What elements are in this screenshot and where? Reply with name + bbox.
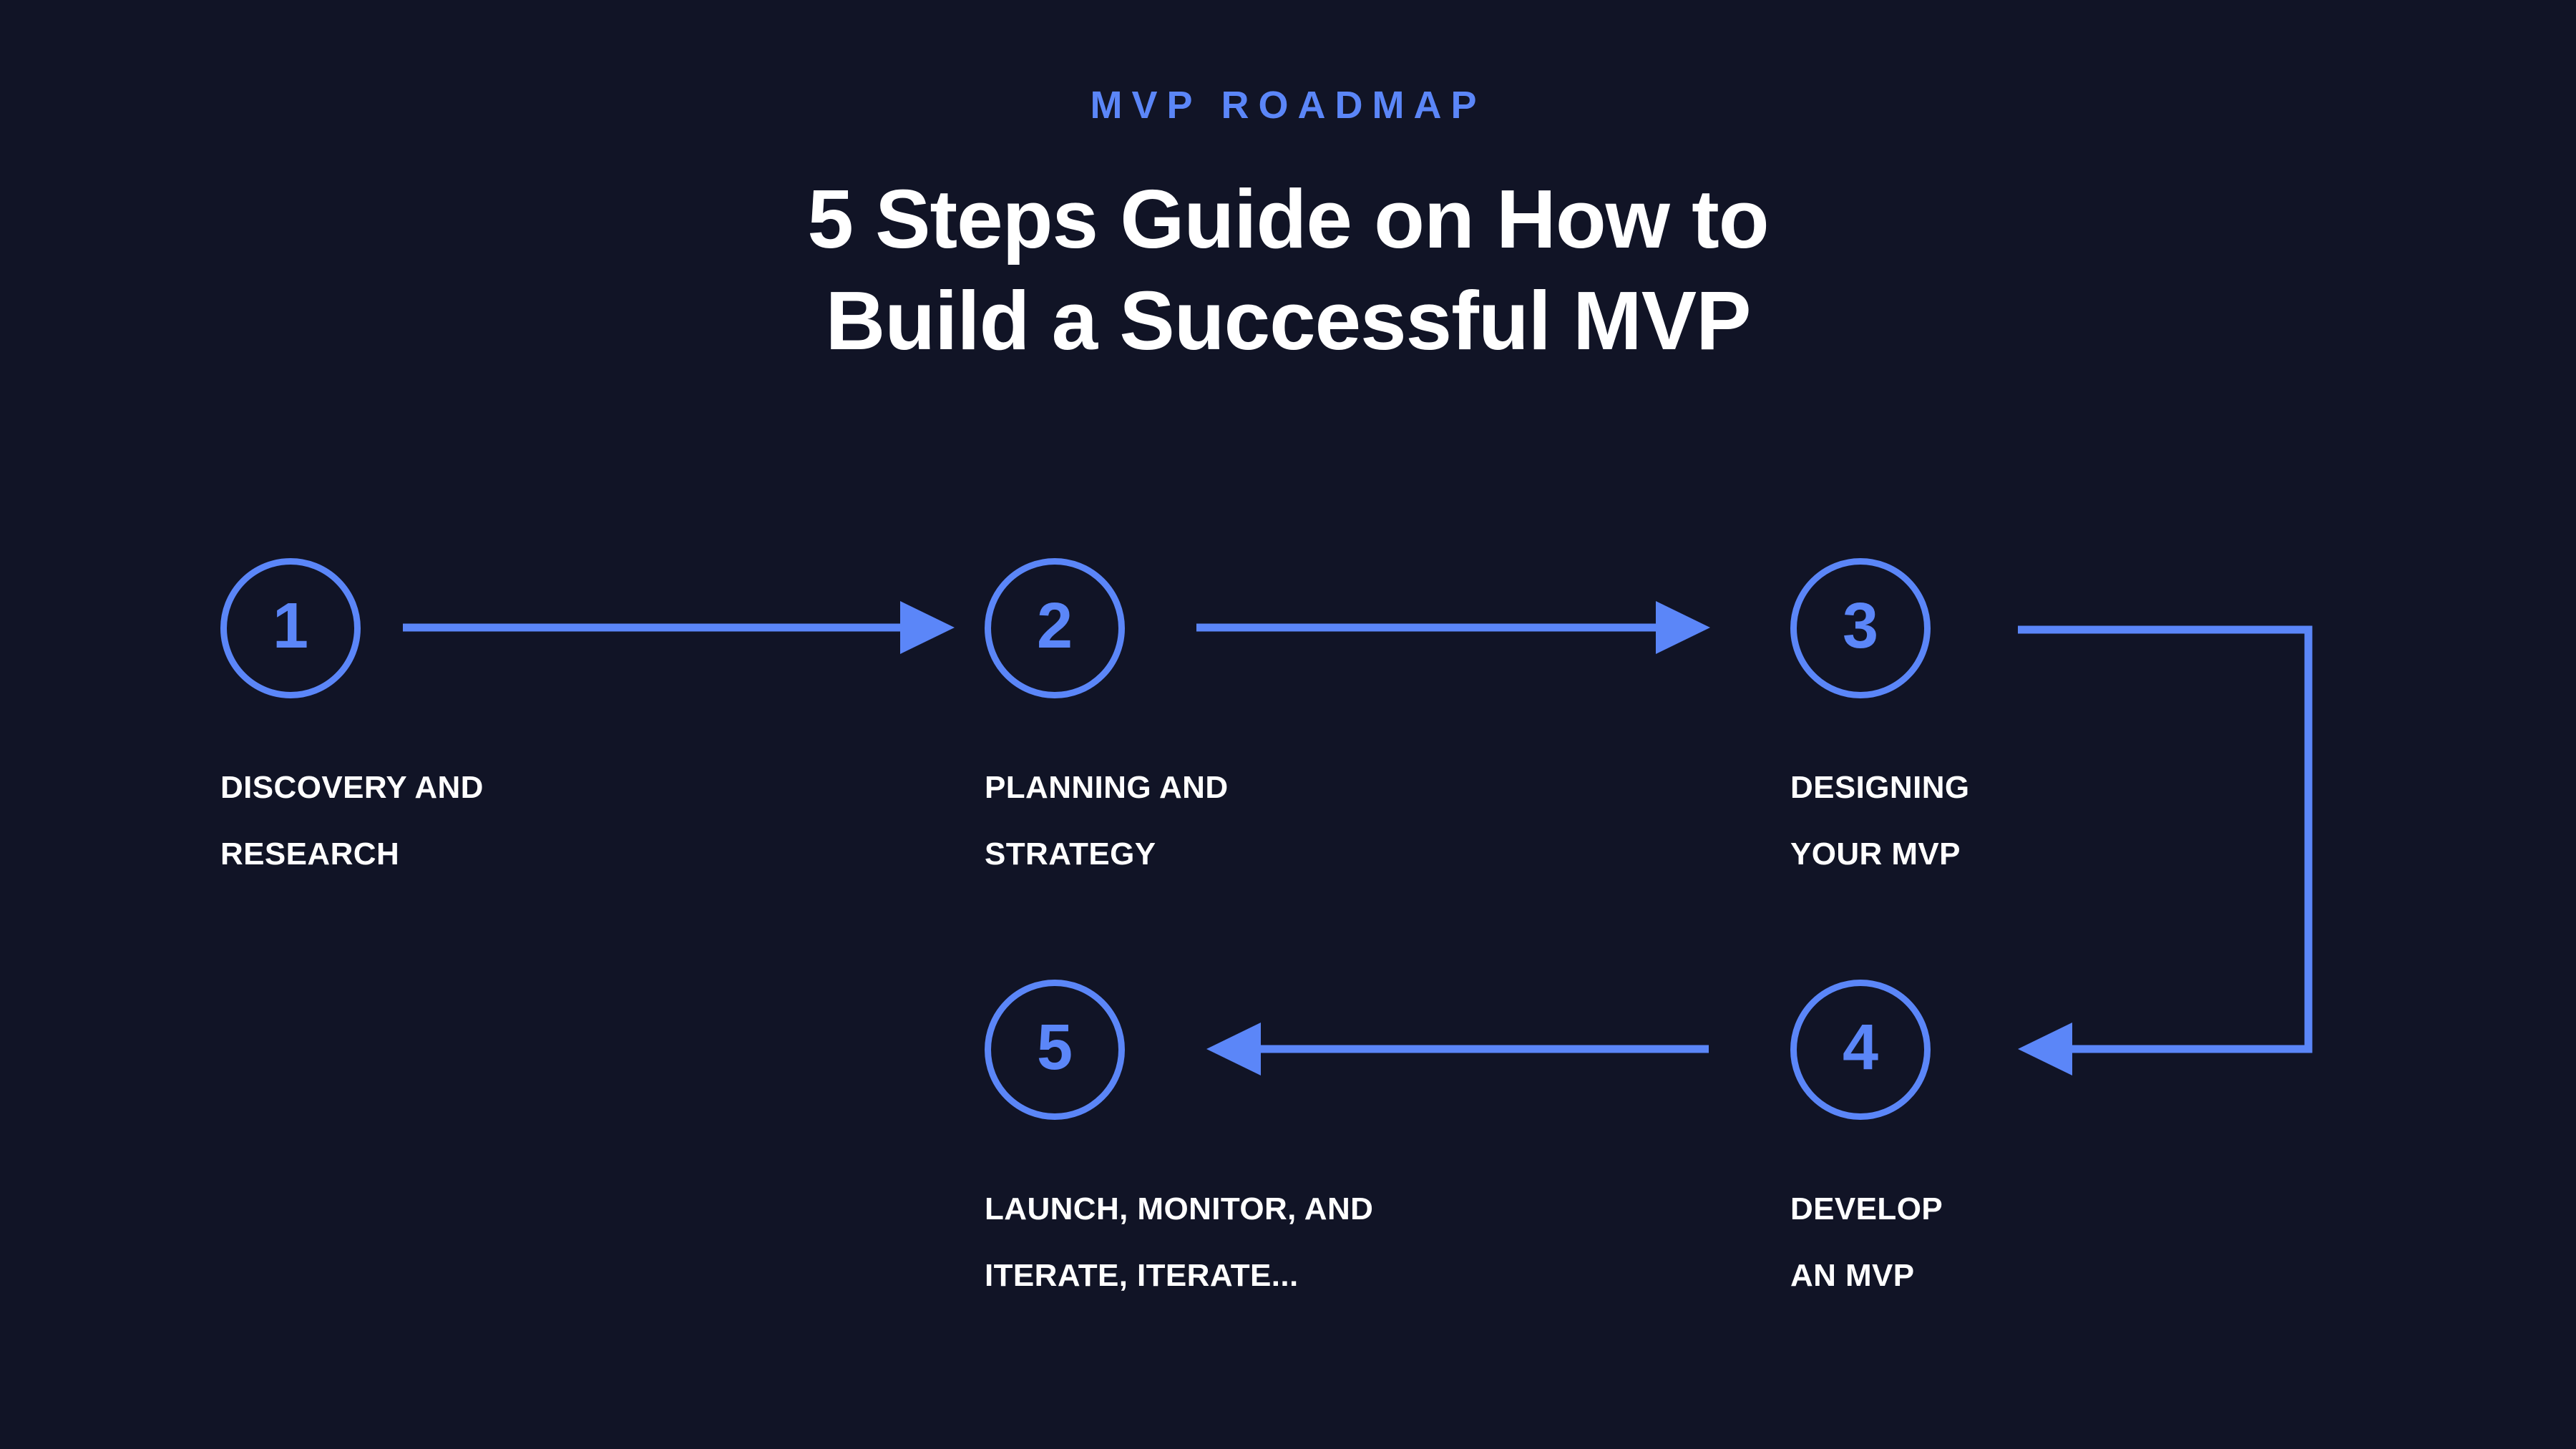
step-label-5-line-1: LAUNCH, MONITOR, AND	[985, 1176, 1373, 1242]
roadmap-flow: 1 DISCOVERY AND RESEARCH 2 PLANNING AND …	[0, 0, 2576, 1449]
step-circle-5[interactable]: 5	[985, 980, 1125, 1120]
step-circle-4[interactable]: 4	[1790, 980, 1931, 1120]
step-label-2-line-1: PLANNING AND	[985, 754, 1229, 821]
step-circle-3[interactable]: 3	[1790, 558, 1931, 698]
step-label-4-line-1: DEVELOP	[1790, 1176, 1943, 1242]
infographic-canvas: MVP ROADMAP 5 Steps Guide on How to Buil…	[0, 0, 2576, 1449]
step-label-1-line-1: DISCOVERY AND	[220, 754, 484, 821]
step-circle-2[interactable]: 2	[985, 558, 1125, 698]
step-label-3-line-1: DESIGNING	[1790, 754, 1970, 821]
step-label-5: LAUNCH, MONITOR, AND ITERATE, ITERATE...	[985, 1176, 1373, 1309]
step-label-2-line-2: STRATEGY	[985, 821, 1229, 887]
step-node-4[interactable]: 4 DEVELOP AN MVP	[1790, 980, 1943, 1309]
step-number-5: 5	[1037, 1015, 1073, 1080]
step-number-4: 4	[1843, 1015, 1878, 1080]
step-label-5-line-2: ITERATE, ITERATE...	[985, 1242, 1373, 1309]
step-label-2: PLANNING AND STRATEGY	[985, 754, 1229, 888]
step-number-1: 1	[273, 594, 308, 658]
step-number-2: 2	[1037, 594, 1073, 658]
step-label-3-line-2: YOUR MVP	[1790, 821, 1970, 887]
step-node-3[interactable]: 3 DESIGNING YOUR MVP	[1790, 558, 1970, 888]
step-node-5[interactable]: 5 LAUNCH, MONITOR, AND ITERATE, ITERATE.…	[985, 980, 1373, 1309]
step-number-3: 3	[1843, 594, 1878, 658]
step-label-1: DISCOVERY AND RESEARCH	[220, 754, 484, 888]
step-label-4: DEVELOP AN MVP	[1790, 1176, 1943, 1309]
step-circle-1[interactable]: 1	[220, 558, 361, 698]
step-node-1[interactable]: 1 DISCOVERY AND RESEARCH	[220, 558, 484, 888]
step-label-3: DESIGNING YOUR MVP	[1790, 754, 1970, 888]
step-label-1-line-2: RESEARCH	[220, 821, 484, 887]
step-node-2[interactable]: 2 PLANNING AND STRATEGY	[985, 558, 1229, 888]
step-label-4-line-2: AN MVP	[1790, 1242, 1943, 1309]
